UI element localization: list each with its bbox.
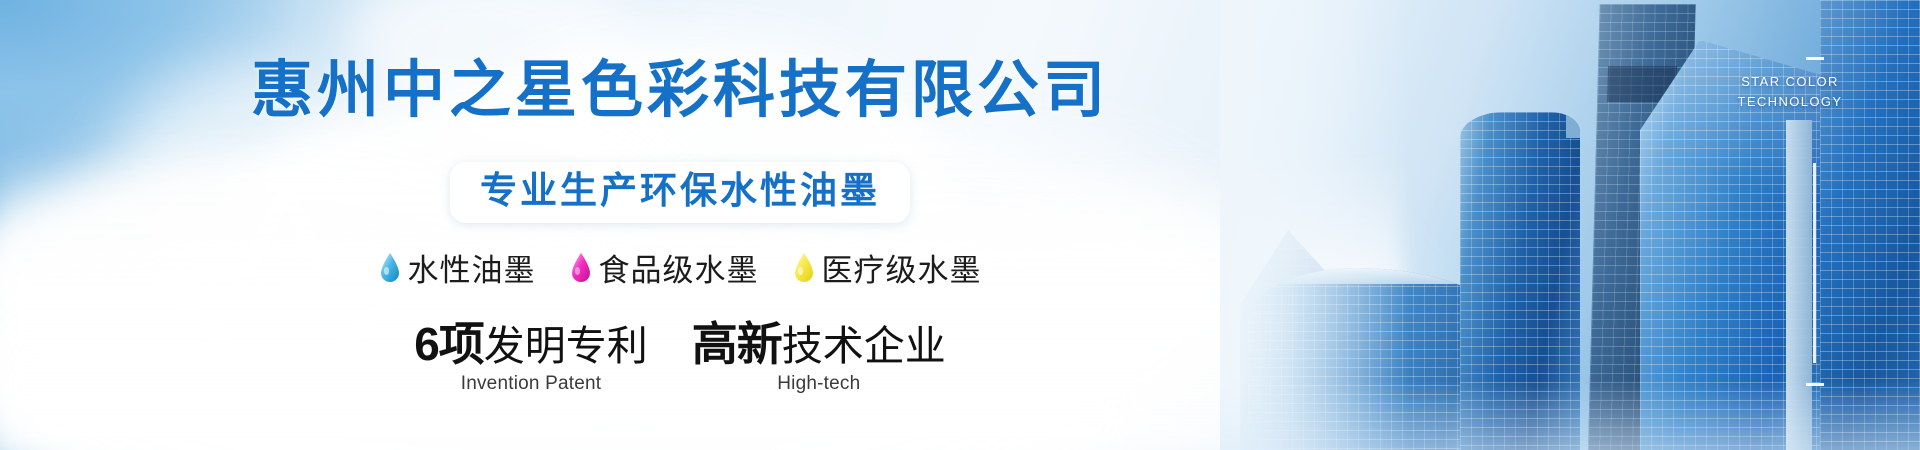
water-drop-icon [570,252,592,283]
badge-list: 6项发明专利 Invention Patent 高新技术企业 High-tech [0,320,1360,395]
badge-en-text: High-tech [692,373,946,395]
badge-cn-rest: 技术企业 [782,323,946,369]
feature-list: 水性油墨 食品级水墨 [0,245,1360,290]
list-item: 医疗级水墨 [793,245,982,290]
water-drop-icon [379,252,401,283]
badge-number: 6项 [414,318,484,370]
tagline-row: 专业生产环保水性油墨 [0,162,1360,223]
list-item: 水性油墨 [379,245,536,290]
list-item: 食品级水墨 [570,245,759,290]
page-title: 惠州中之星色彩科技有限公司 [0,60,1360,122]
badge-high-tech: 高新技术企业 High-tech [692,320,946,395]
badge-cn-text: 6项发明专利 [414,320,648,368]
badge-cn-text: 高新技术企业 [692,320,946,368]
badge-en-text: Invention Patent [414,373,648,395]
feature-label: 水性油墨 [408,245,536,290]
water-drop-icon [793,252,815,283]
tagline-pill: 专业生产环保水性油墨 [450,162,910,223]
company-banner: Star Color [0,0,1920,450]
badge-number: 高新 [692,318,782,370]
feature-label: 食品级水墨 [599,245,759,290]
badge-invention-patent: 6项发明专利 Invention Patent [414,320,648,395]
feature-label: 医疗级水墨 [822,245,982,290]
banner-content: 惠州中之星色彩科技有限公司 专业生产环保水性油墨 水性油墨 [0,0,1920,450]
badge-cn-rest: 发明专利 [484,323,648,369]
